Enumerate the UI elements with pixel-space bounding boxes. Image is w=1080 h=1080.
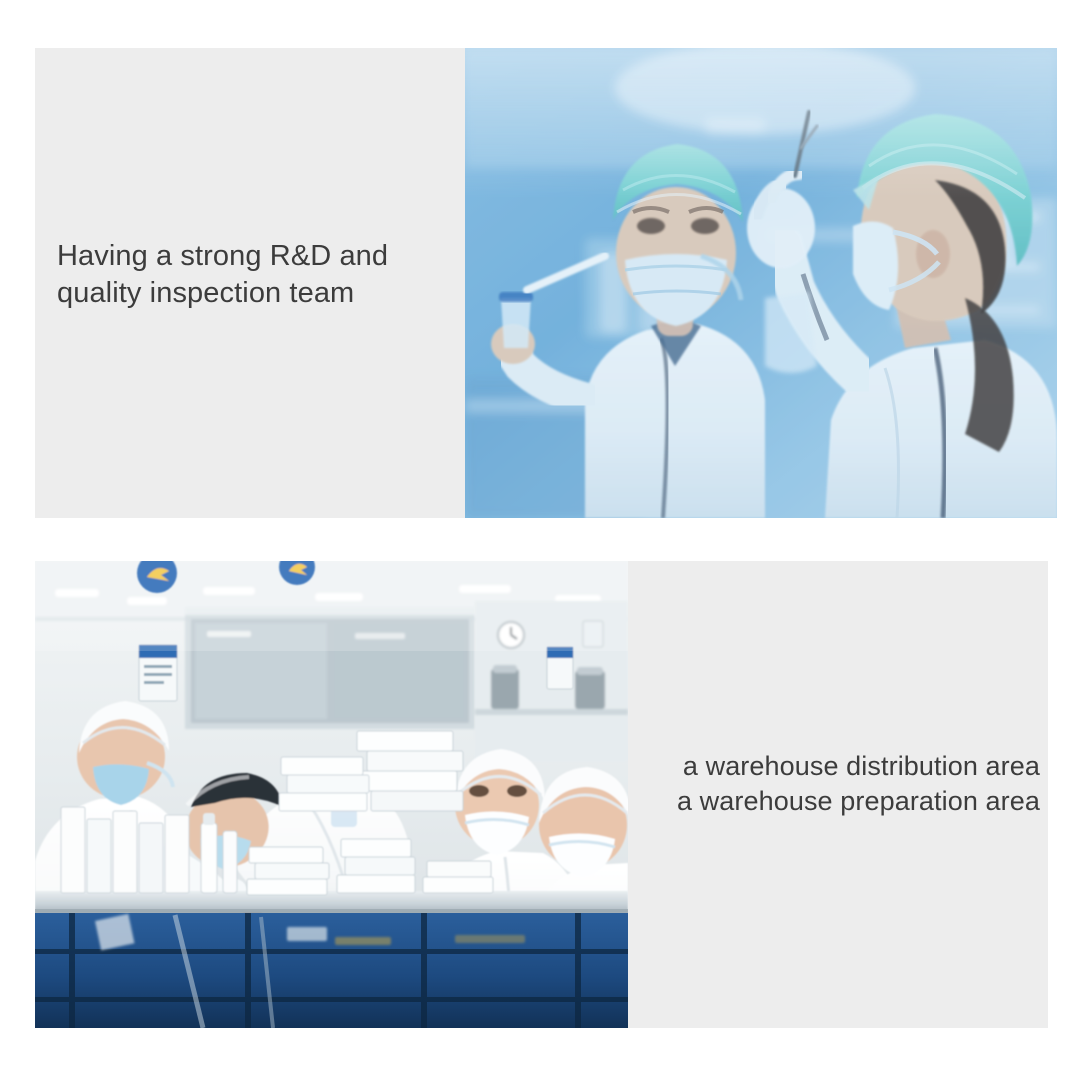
top-section: Having a strong R&D and quality inspecti… <box>35 48 1057 518</box>
top-caption-panel: Having a strong R&D and quality inspecti… <box>35 48 465 518</box>
top-caption-text: Having a strong R&D and quality inspecti… <box>57 238 457 312</box>
bottom-caption-panel: a warehouse distribution area a warehous… <box>628 561 1048 1028</box>
lab-photo-graphic <box>465 48 1057 518</box>
lab-rd-quality-inspection-photo <box>465 48 1057 518</box>
bottom-section: a warehouse distribution area a warehous… <box>35 561 1048 1028</box>
bottom-caption-text: a warehouse distribution area a warehous… <box>630 749 1040 819</box>
warehouse-photo-graphic <box>35 561 628 1028</box>
warehouse-packing-cleanroom-photo <box>35 561 628 1028</box>
